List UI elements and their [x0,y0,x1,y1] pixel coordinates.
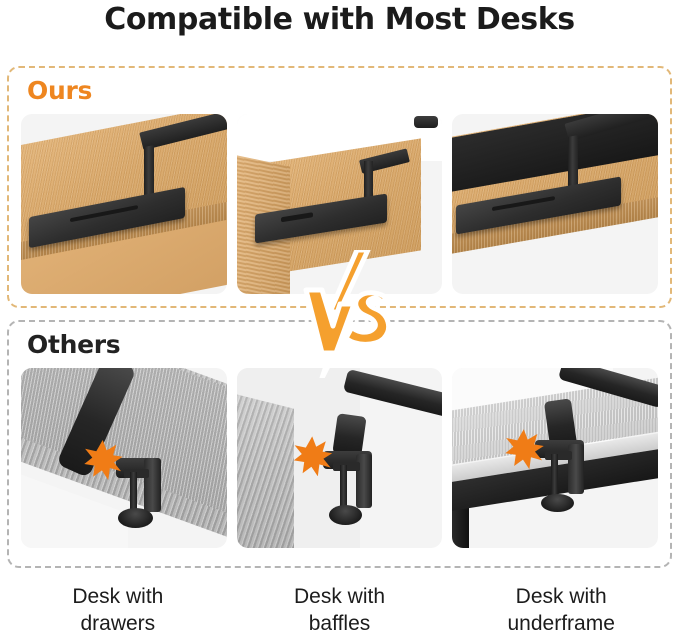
caption-line-1: Desk with [12,583,224,610]
clamp-knob [541,494,574,512]
ours-comparison-box: Ours [7,66,672,308]
others-panel-2[interactable] [237,368,443,548]
others-comparison-box: Others [7,320,672,568]
others-panel-1[interactable] [21,368,227,548]
ours-scene-3 [452,114,658,294]
plate-slot [281,213,313,223]
others-scene-2 [237,368,443,548]
clamp-body [144,458,160,512]
clamp-knob [118,508,153,528]
ours-scene-1 [21,114,227,294]
ours-image-row [21,114,658,294]
monitor-arm-lower [333,413,367,456]
caption-line-2: drawers [12,610,224,637]
ours-panel-2[interactable] [237,114,443,294]
others-label: Others [27,330,120,359]
ours-panel-3[interactable] [452,114,658,294]
ours-label: Ours [27,76,92,105]
ours-panel-1[interactable] [21,114,227,294]
caption-line-1: Desk with [234,583,446,610]
caption-desk-with-underframe: Desk with underframe [455,583,667,637]
caption-line-2: baffles [234,610,446,637]
caption-desk-with-drawers: Desk with drawers [12,583,224,637]
others-scene-1 [21,368,227,548]
others-image-row [21,368,658,548]
clamp-pad [545,451,572,460]
clamp-pad [333,462,360,471]
clamp-screw [551,454,558,497]
arm-clip [414,116,439,129]
plate-slot [493,197,556,212]
others-scene-3 [452,368,658,548]
page-title: Compatible with Most Desks [0,2,679,37]
caption-line-2: underframe [455,610,667,637]
others-panel-3[interactable] [452,368,658,548]
ours-scene-2 [237,114,443,294]
caption-desk-with-baffles: Desk with baffles [234,583,446,637]
caption-line-1: Desk with [455,583,667,610]
plate-slot [70,205,139,222]
desk-surface [237,392,295,548]
caption-row: Desk with drawers Desk with baffles Desk… [12,583,667,637]
clamp-knob [329,505,362,525]
